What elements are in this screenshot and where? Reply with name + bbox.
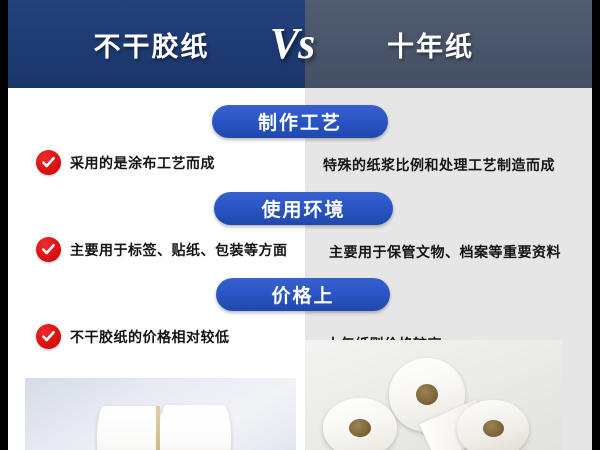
section-pill-label: 制作工艺	[258, 108, 342, 135]
left-row-text: 主要用于标签、贴纸、包装等方面	[70, 240, 288, 260]
header-left-title: 不干胶纸	[94, 25, 210, 64]
header-band: 不干胶纸 十年纸	[8, 0, 592, 88]
header-right-title: 十年纸	[387, 25, 474, 64]
label-roll-core	[349, 419, 371, 437]
right-row-text-environment: 主要用于保管文物、档案等重要资料	[329, 242, 561, 262]
infographic-card: 不干胶纸 十年纸 Vs 制作工艺 使用环境 价格上	[8, 0, 592, 450]
left-product-photo	[25, 378, 296, 450]
right-product-photo	[305, 340, 562, 450]
section-pill-label: 使用环境	[261, 195, 345, 222]
header-left-panel: 不干胶纸	[8, 0, 305, 88]
check-circle-icon	[36, 237, 61, 262]
section-pill-price[interactable]: 价格上	[216, 278, 390, 311]
label-roll-core	[416, 384, 438, 405]
section-pill-label: 价格上	[271, 281, 334, 308]
left-row-text: 采用的是涂布工艺而成	[70, 153, 215, 173]
paper-roll-seam	[156, 406, 160, 450]
left-row-environment: 主要用于标签、贴纸、包装等方面	[36, 237, 288, 262]
paper-roll-shape	[97, 406, 163, 450]
section-pill-environment[interactable]: 使用环境	[214, 192, 393, 225]
check-circle-icon	[36, 324, 61, 349]
left-row-price: 不干胶纸的价格相对较低	[36, 324, 230, 349]
header-right-panel: 十年纸	[305, 0, 592, 88]
left-row-manufacturing: 采用的是涂布工艺而成	[36, 150, 215, 175]
comparison-infographic: 不干胶纸 十年纸 Vs 制作工艺 使用环境 价格上	[0, 0, 600, 450]
check-circle-icon	[36, 150, 61, 175]
label-roll-core	[483, 420, 504, 437]
section-pill-manufacturing[interactable]: 制作工艺	[212, 105, 388, 138]
paper-roll-shape	[159, 405, 231, 450]
left-row-text: 不干胶纸的价格相对较低	[70, 327, 230, 347]
right-row-text-manufacturing: 特殊的纸浆比例和处理工艺制造而成	[323, 155, 555, 175]
